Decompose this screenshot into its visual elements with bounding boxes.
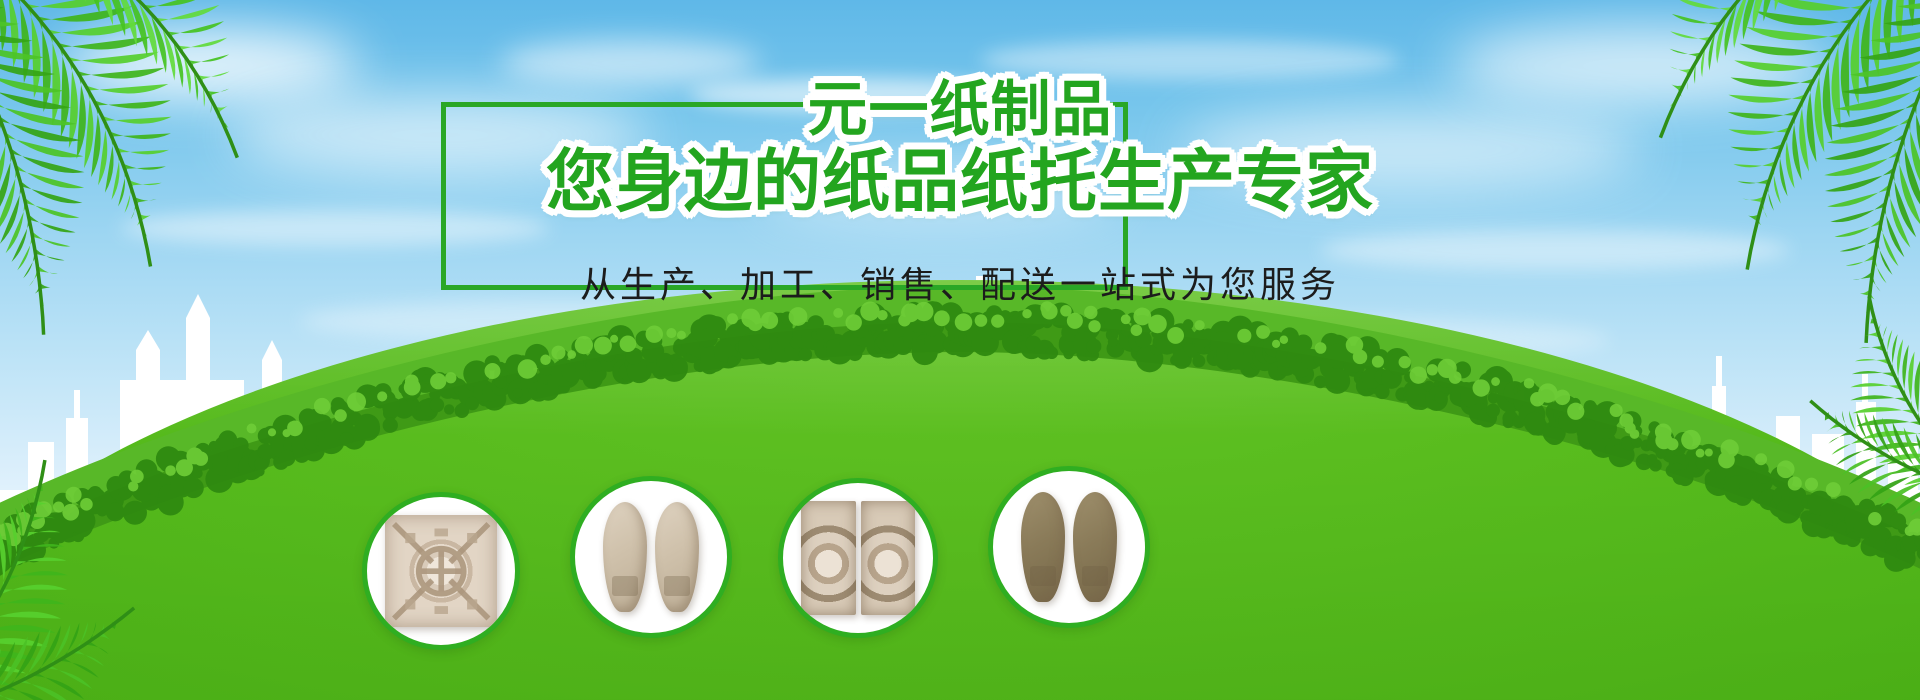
product-circle-3[interactable] [778,478,938,638]
molded-pulp-shoe-tree-light-image [593,499,709,615]
molded-pulp-double-tray-image [801,501,915,615]
headline-block: 元一纸制品 您身边的纸品纸托生产专家 从生产、加工、销售、配送一站式为您服务 [0,80,1920,308]
promo-banner: 元一纸制品 您身边的纸品纸托生产专家 从生产、加工、销售、配送一站式为您服务 [0,0,1920,700]
product-circle-4[interactable] [988,466,1150,628]
brand-name: 元一纸制品 [0,80,1920,142]
molded-pulp-square-tray-image [385,515,497,627]
molded-pulp-shoe-tree-dark-image [1011,489,1127,605]
page-title: 您身边的纸品纸托生产专家 [0,148,1920,220]
subtitle: 从生产、加工、销售、配送一站式为您服务 [0,256,1920,308]
product-circle-2[interactable] [570,476,732,638]
product-circle-1[interactable] [362,492,520,650]
product-showcase [0,400,1920,700]
